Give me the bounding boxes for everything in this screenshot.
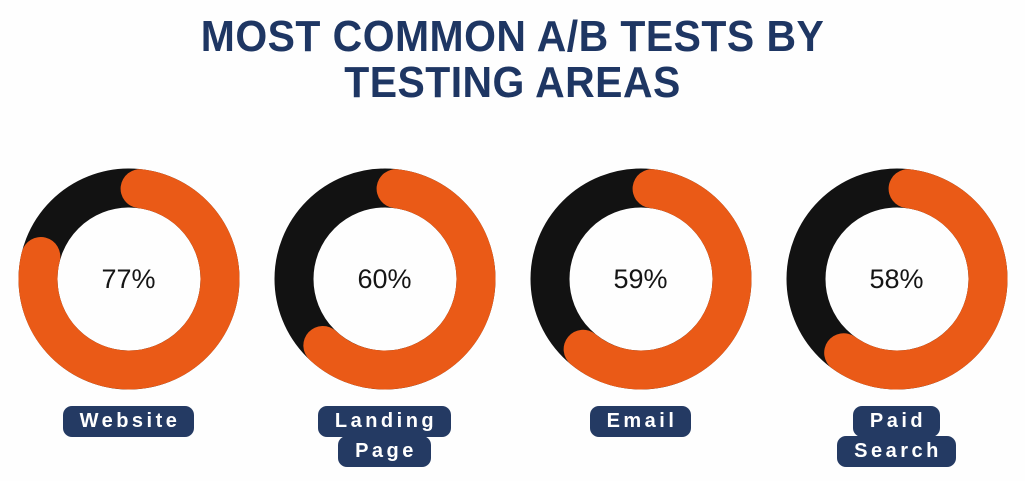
label-pill-line-1: Email xyxy=(590,406,692,437)
donut-svg xyxy=(530,168,752,390)
donut-svg xyxy=(18,168,240,390)
donut-chart-row: 77% Website 60% Landing Page xyxy=(0,168,1025,467)
donut-chart: 60% xyxy=(274,168,496,390)
donut-chart: 59% xyxy=(530,168,752,390)
donut-cell-landing-page: 60% Landing Page xyxy=(278,168,492,467)
label-pill-line-1: Landing xyxy=(318,406,451,437)
title-line-1: MOST COMMON A/B TESTS BY xyxy=(36,14,989,60)
infographic-canvas: MOST COMMON A/B TESTS BY TESTING AREAS 7… xyxy=(0,0,1025,481)
donut-svg xyxy=(786,168,1008,390)
label-pill-line-1: Website xyxy=(63,406,195,437)
donut-label-email: Email xyxy=(590,406,692,437)
donut-cell-website: 77% Website xyxy=(22,168,236,437)
donut-label-landing-page: Landing Page xyxy=(318,406,451,467)
donut-svg xyxy=(274,168,496,390)
label-pill-line-2: Search xyxy=(837,436,956,467)
page-title: MOST COMMON A/B TESTS BY TESTING AREAS xyxy=(0,14,1025,106)
donut-chart: 77% xyxy=(18,168,240,390)
donut-cell-email: 59% Email xyxy=(534,168,748,437)
donut-chart: 58% xyxy=(786,168,1008,390)
label-pill-line-1: Paid xyxy=(853,406,940,437)
donut-cell-paid-search: 58% Paid Search xyxy=(790,168,1004,467)
label-pill-line-2: Page xyxy=(338,436,431,467)
title-line-2: TESTING AREAS xyxy=(36,60,989,106)
donut-label-paid-search: Paid Search xyxy=(837,406,956,467)
donut-label-website: Website xyxy=(63,406,195,437)
